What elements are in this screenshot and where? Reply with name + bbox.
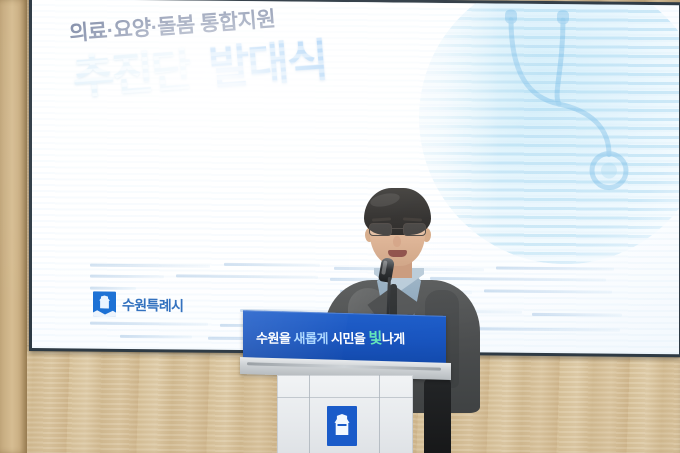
lectern-seam-horizontal xyxy=(277,397,413,398)
wood-wall-left-post xyxy=(0,0,27,453)
microphone-head xyxy=(378,257,395,283)
slide-headline-word-1: 추진단 xyxy=(71,46,193,102)
lectern-banner-text: 수원을 새롭게 시민을 빛나게 xyxy=(256,327,436,349)
lectern: 수원을 새롭게 시민을 빛나게 xyxy=(243,313,450,453)
banner-segment-3: 시민을 xyxy=(331,331,369,346)
speaker-nose xyxy=(393,236,401,247)
speaker-mouth xyxy=(388,250,407,257)
lectern-seam-right xyxy=(379,375,380,453)
eyeglasses-icon xyxy=(368,223,427,236)
banner-segment-4: 빛 xyxy=(368,330,382,347)
banner-segment-2: 새롭게 xyxy=(293,331,331,346)
banner-segment-5: 나게 xyxy=(382,331,405,346)
suwon-fortress-tower-icon xyxy=(327,406,357,446)
banner-segment-1: 수원을 xyxy=(256,331,294,346)
suwon-fortress-tower-icon xyxy=(93,291,116,316)
slide-city-logo-label: 수원특례시 xyxy=(122,294,183,315)
slide-headline-word-2: 발대식 xyxy=(207,36,329,92)
photo-scene: 의료·요양·돌봄 통합지원 추진단발대식 xyxy=(0,0,680,453)
lectern-seam-left xyxy=(309,375,310,453)
slide-city-logo: 수원특례시 xyxy=(93,291,183,317)
